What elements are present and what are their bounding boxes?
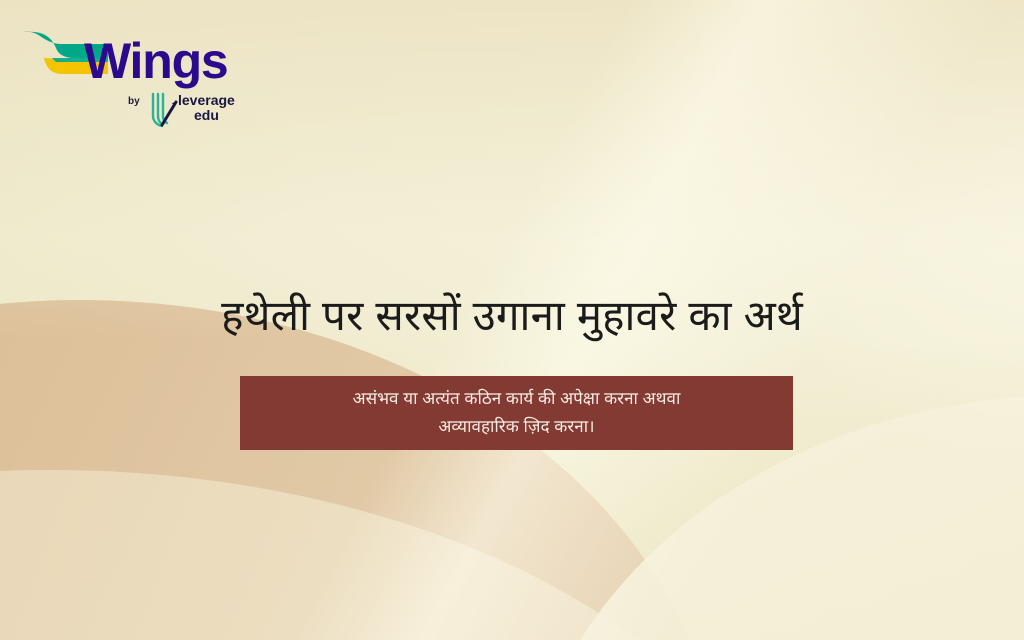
meaning-callout-box: असंभव या अत्यंत कठिन कार्य की अपेक्षा कर… <box>240 376 793 450</box>
meaning-text: असंभव या अत्यंत कठिन कार्य की अपेक्षा कर… <box>353 385 681 440</box>
page-title: हथेली पर सरसों उगाना मुहावरे का अर्थ <box>0 290 1024 343</box>
brand-wordmark: Wings <box>84 36 228 86</box>
meaning-line-1: असंभव या अत्यंत कठिन कार्य की अपेक्षा कर… <box>353 385 681 413</box>
meaning-line-2: अव्यावहारिक ज़िद करना। <box>353 413 681 441</box>
leverage-edu-line2: edu <box>194 108 235 123</box>
brand-by-label: by <box>128 96 140 107</box>
leverage-edu-line1: leverage <box>178 92 235 108</box>
brand-logo[interactable]: Wings by leverage edu <box>22 24 237 134</box>
poster-canvas: Wings by leverage edu हथेली पर सरसों उगा… <box>0 0 1024 640</box>
leverage-edu-wordmark: leverage edu <box>178 93 235 123</box>
leverage-edu-check-icon <box>150 90 180 130</box>
